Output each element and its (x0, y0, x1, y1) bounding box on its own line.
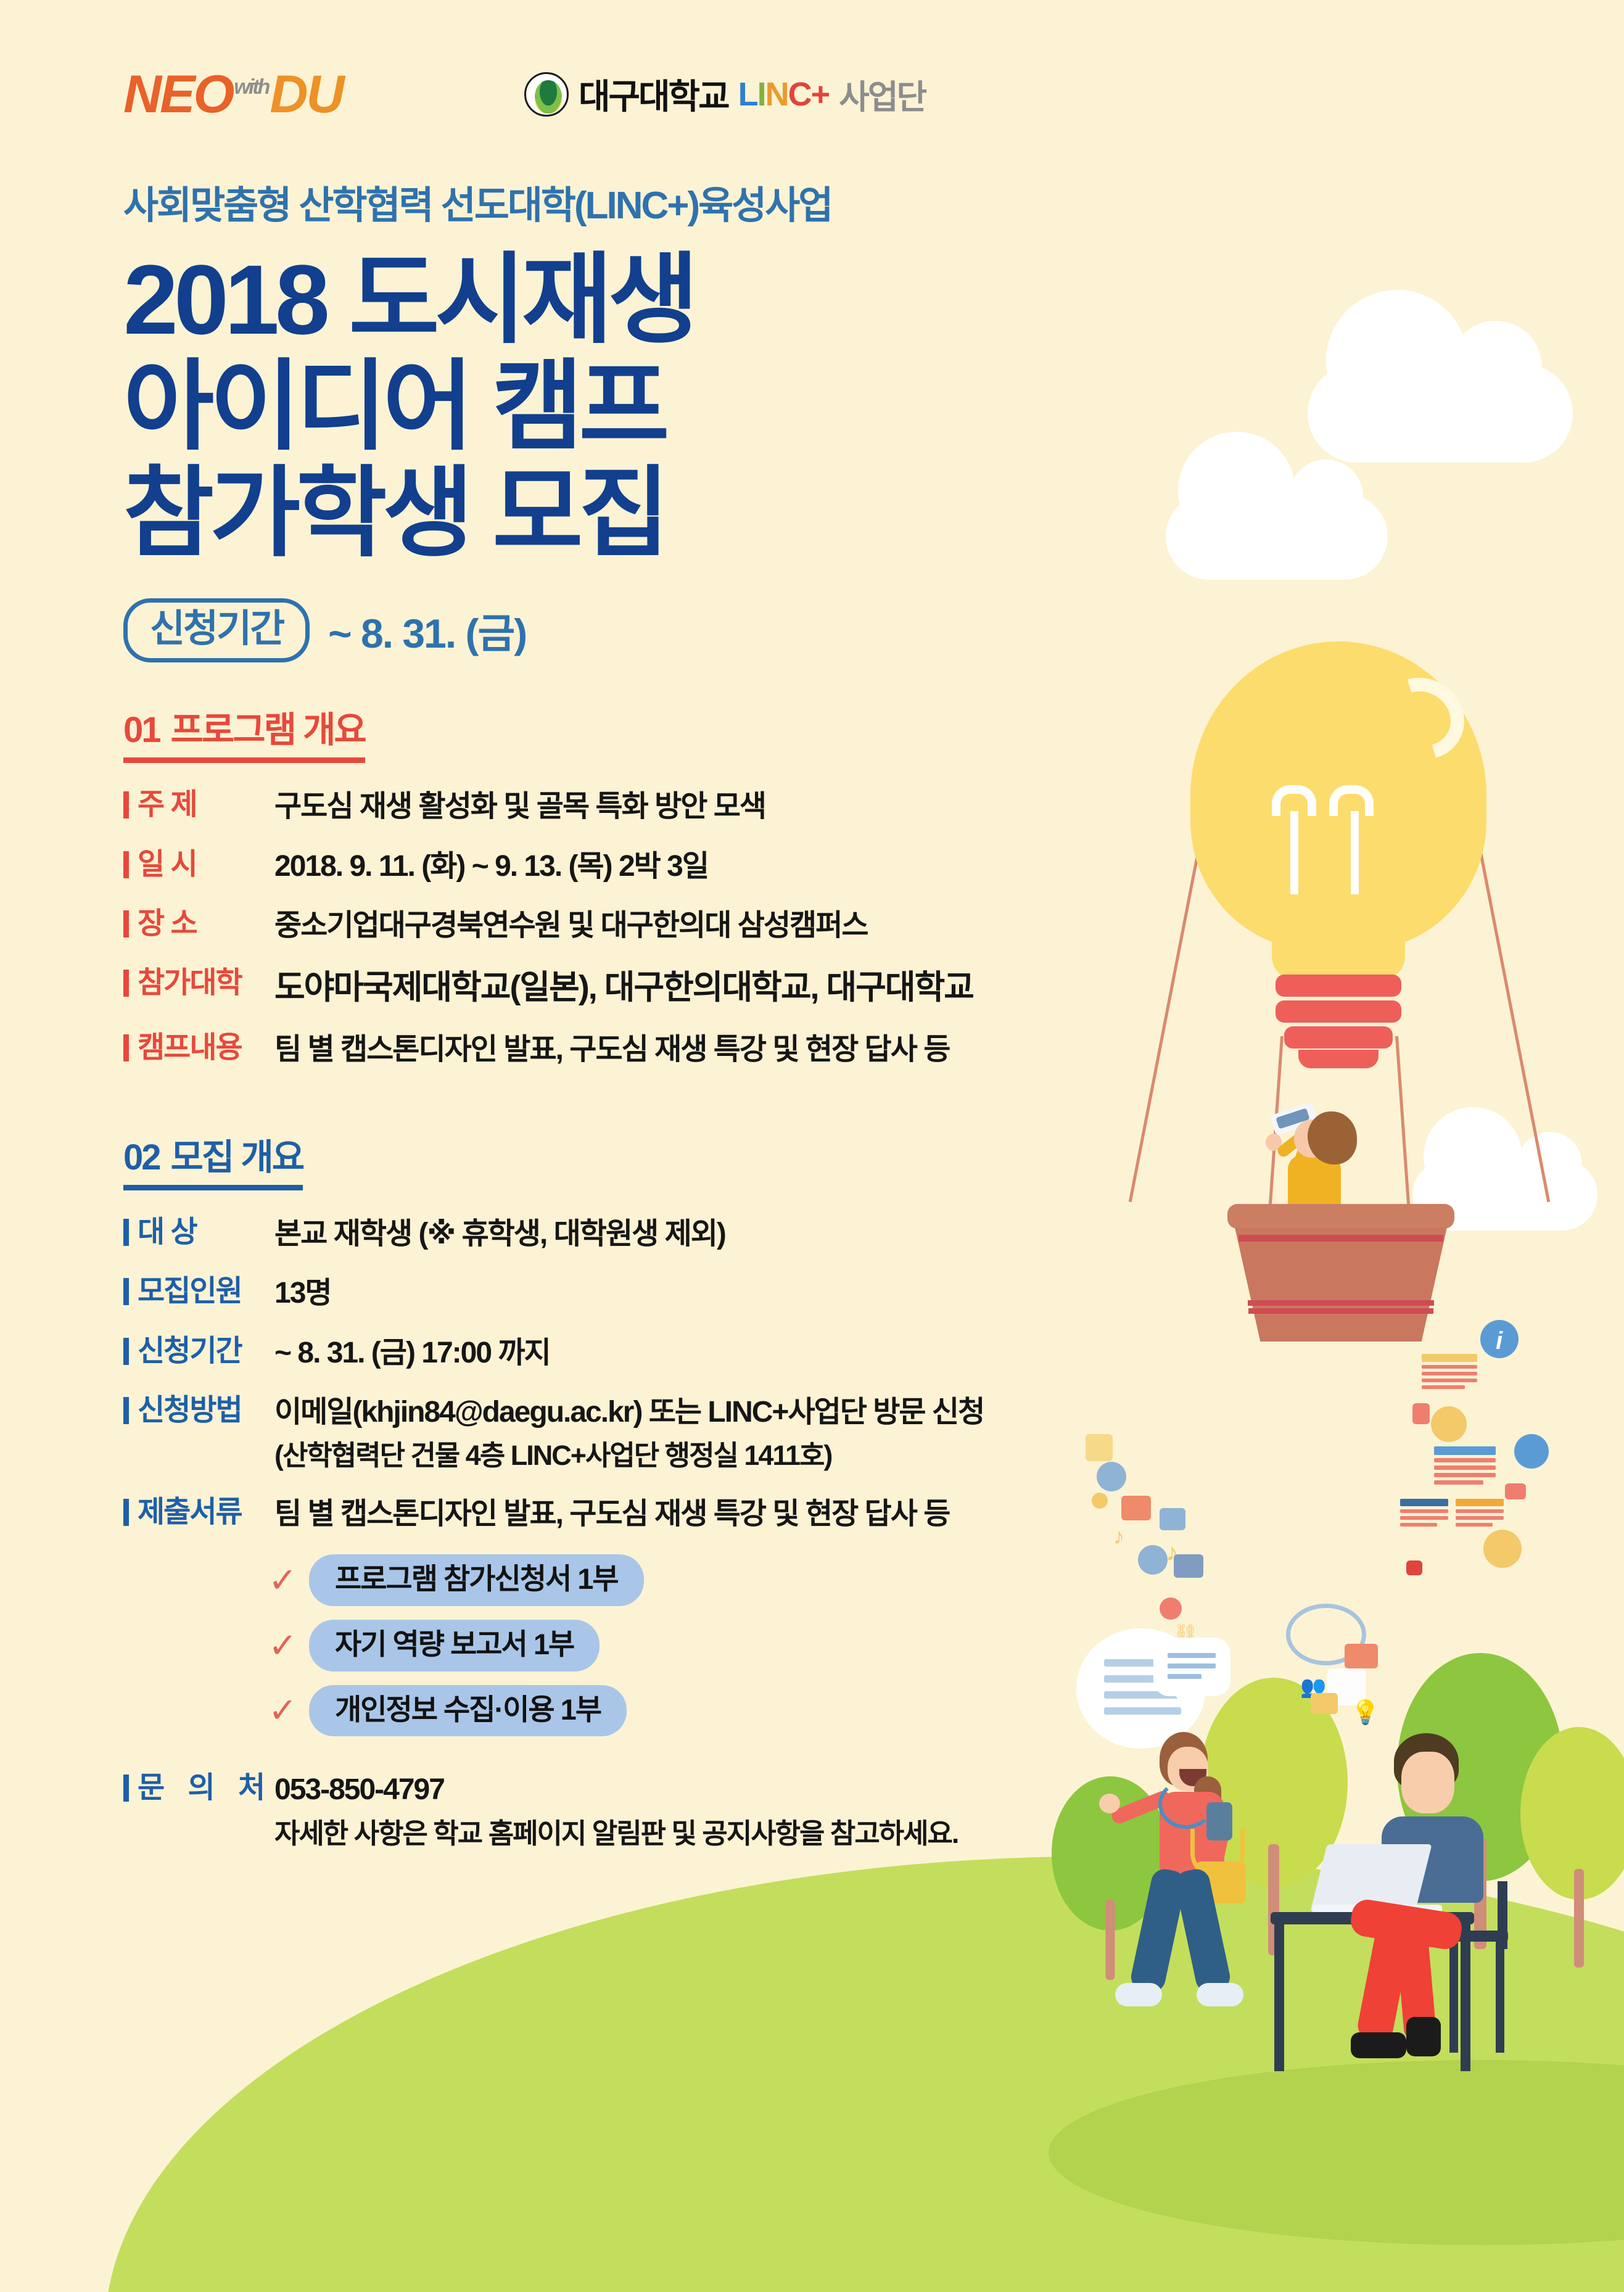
section-heading-recruitment-overview: 02모집 개요 (123, 1138, 303, 1190)
shoe (1351, 2032, 1406, 2058)
detail-row: 대 상 본교 재학생 (※ 휴학생, 대학원생 제외) (123, 1215, 1049, 1253)
row-label: 대 상 (138, 1215, 274, 1249)
people-icon: 👥 (1300, 1675, 1326, 1699)
camera-icon (1121, 1496, 1151, 1520)
head (1168, 1747, 1208, 1791)
desk-leg (1274, 1923, 1284, 2071)
poster-canvas: i (0, 0, 1624, 2292)
row-marker (123, 910, 129, 938)
program-overview-rows: 주 제 구도심 재생 활성화 및 골목 특화 방안 모색 일 시 2018. 9… (123, 788, 1049, 1069)
bulb-filament-stem (1290, 811, 1298, 894)
badge-label: 신청기간 (123, 598, 310, 662)
basket-stripe (1248, 1300, 1434, 1306)
torso (1288, 1155, 1341, 1227)
row-label: 장 소 (138, 907, 274, 941)
shoe (1197, 1983, 1243, 2006)
check-icon: ✓ (268, 1563, 309, 1597)
detail-row: 일 시 2018. 9. 11. (화) ~ 9. 13. (목) 2박 3일 (123, 847, 1049, 886)
linc-sub-label: 사업단 (839, 70, 925, 118)
detail-row: 주 제 구도심 재생 활성화 및 골목 특화 방안 모색 (123, 788, 1049, 826)
music-note-icon: ♪ (1166, 1539, 1178, 1567)
balloon-basket-rim (1227, 1204, 1454, 1229)
row-value-main: 이메일(khjin84@daegu.ac.kr) 또는 LINC+사업단 방문 … (274, 1396, 984, 1428)
tree-icon (1394, 1653, 1567, 1949)
mail-icon (1483, 1530, 1522, 1568)
detail-row: 모집인원 13명 (123, 1274, 1049, 1313)
hair (1394, 1733, 1459, 1790)
speech-bubble-tail (1175, 1695, 1195, 1712)
hair (1160, 1732, 1208, 1786)
section-title: 모집 개요 (171, 1137, 303, 1177)
row-label: 제출서류 (138, 1495, 274, 1529)
row-value: 팀 별 캡스톤디자인 발표, 구도심 재생 특강 및 현장 답사 등 (274, 1495, 949, 1533)
hill-shadow (1049, 2060, 1624, 2245)
bag-strap (1190, 1829, 1245, 1878)
bulb-filament-stem (1351, 811, 1359, 894)
bulb-filament (1272, 785, 1316, 816)
row-marker (123, 1278, 129, 1305)
checklist-label: 프로그램 참가신청서 1부 (309, 1554, 644, 1606)
discount-badge-icon (1138, 1545, 1168, 1575)
bulb-neck (1272, 901, 1405, 981)
phone-icon (1206, 1802, 1232, 1841)
with-logo-text: with (234, 75, 268, 99)
neo-with-du-logo: NEOwithDU (123, 68, 343, 121)
section-title: 프로그램 개요 (171, 710, 365, 750)
balloon-rope (1474, 827, 1550, 1203)
pointing-hand-icon (1099, 1794, 1120, 1813)
shoe (1406, 2017, 1441, 2056)
contact-note: 자세한 사항은 학교 홈페이지 알림판 및 공지사항을 참고하세요. (274, 1816, 958, 1852)
arm (1344, 1844, 1414, 1869)
row-marker (123, 970, 129, 997)
detail-row: 장 소 중소기업대구경북연수원 및 대구한의대 삼성캠퍼스 (123, 907, 1049, 945)
cloud-icon (1166, 493, 1388, 580)
application-period-badge: 신청기간 ~ 8. 31. (금) (123, 598, 1049, 662)
chair-leg (1496, 1942, 1504, 2053)
document-icon (1434, 1446, 1496, 1488)
recruitment-overview-rows: 대 상 본교 재학생 (※ 휴학생, 대학원생 제외) 모집인원 13명 신청기… (123, 1215, 1049, 1533)
row-label: 캠프내용 (138, 1031, 274, 1065)
document-icon (1456, 1499, 1504, 1530)
section-number: 01 (123, 710, 160, 750)
user-icon (1160, 1597, 1182, 1620)
row-value: 구도심 재생 활성화 및 골목 특화 방안 모색 (274, 788, 765, 826)
speech-bubble-icon (1286, 1604, 1366, 1665)
row-marker (123, 791, 129, 818)
row-marker (123, 851, 129, 878)
row-label: 주 제 (138, 788, 274, 822)
arm (1294, 1127, 1317, 1165)
row-label: 신청방법 (138, 1393, 274, 1427)
bulb-screw-tip (1298, 1050, 1379, 1068)
walking-girl-with-phone-icon (1086, 1721, 1308, 2066)
headphones-icon: 🎧 (1187, 1644, 1213, 1668)
earphone-cable-icon (1158, 1779, 1214, 1829)
camera-icon (1311, 1693, 1338, 1714)
chair-leg (1449, 1942, 1458, 2053)
tree-icon (1049, 1776, 1172, 1980)
row-value: 2018. 9. 11. (화) ~ 9. 13. (목) 2박 3일 (274, 847, 708, 886)
list-item: ✓ 개인정보 수집·이용 1부 (268, 1685, 1049, 1737)
shoe (1115, 1983, 1162, 2006)
leg (1395, 1929, 1436, 2043)
row-label: 모집인원 (138, 1274, 274, 1308)
row-value: 13명 (274, 1274, 331, 1313)
check-icon: ✓ (268, 1693, 309, 1728)
head (1401, 1752, 1454, 1813)
laptop-keyboard-icon (1313, 1905, 1442, 1916)
page-title: 2018 도시재생 아이디어 캠프 참가학생 모집 (123, 247, 1049, 566)
contact-phone: 053-850-4797 (274, 1773, 444, 1806)
balloon-rope (1129, 827, 1205, 1203)
basket-stripe (1248, 1308, 1433, 1314)
checklist-label: 자기 역량 보고서 1부 (309, 1620, 600, 1672)
desk-leg (1461, 1923, 1470, 2071)
row-value: 팀 별 캡스톤디자인 발표, 구도심 재생 특강 및 현장 답사 등 (274, 1031, 949, 1069)
legs (1294, 1220, 1335, 1256)
row-label: 참가대학 (138, 966, 274, 1000)
checklist-label: 개인정보 수집·이용 1부 (309, 1685, 627, 1737)
head (1294, 1119, 1329, 1158)
monitor-icon (1097, 1462, 1126, 1491)
leg (1129, 1866, 1188, 1994)
ponytail (1194, 1776, 1221, 1850)
row-marker (123, 1338, 129, 1365)
info-glyph: i (1496, 1327, 1502, 1355)
detail-row: 문 의 처 053-850-4797 자세한 사항은 학교 홈페이지 알림판 및… (123, 1771, 1049, 1852)
document-icon (1422, 1354, 1477, 1392)
list-item: ✓ 프로그램 참가신청서 1부 (268, 1554, 1049, 1606)
basket-stripe (1239, 1235, 1443, 1242)
row-label: 신청기간 (138, 1334, 274, 1368)
title-line-1: 2018 도시재생 (123, 247, 1049, 353)
list-item: ✓ 자기 역량 보고서 1부 (268, 1620, 1049, 1672)
leg (1173, 1866, 1232, 1994)
boy-at-laptop-icon (1308, 1727, 1573, 2072)
section-heading-program-overview: 01프로그램 개요 (123, 711, 365, 763)
leg (1355, 1922, 1412, 2044)
row-value: 053-850-4797 자세한 사항은 학교 홈페이지 알림판 및 공지사항을… (274, 1771, 958, 1852)
badge-date: ~ 8. 31. (금) (328, 601, 526, 660)
mouth (1179, 1769, 1206, 1786)
title-line-2: 아이디어 캠프 (123, 353, 1049, 460)
gear-icon (1092, 1493, 1108, 1509)
check-icon: ✓ (268, 1628, 309, 1663)
copy-icon (1086, 1434, 1113, 1461)
bulb-filament (1329, 785, 1374, 816)
mail-icon (1345, 1644, 1378, 1668)
bulb-screw-base (1284, 1026, 1393, 1049)
university-name: 대구대학교 (579, 69, 728, 119)
cloud-icon (1308, 364, 1573, 463)
chair-seat (1440, 1931, 1508, 1942)
row-value: 이메일(khjin84@daegu.ac.kr) 또는 LINC+사업단 방문 … (274, 1393, 984, 1474)
briefcase-icon (1174, 1554, 1203, 1578)
row-marker (123, 1499, 129, 1526)
lightbulb-hot-air-balloon-icon (1129, 641, 1523, 1419)
bar-chart-icon (1412, 1403, 1430, 1424)
document-lines (1104, 1659, 1181, 1723)
logo-row: NEOwithDU 대구대학교 LINC+ 사업단 (123, 0, 1049, 154)
row-value: 중소기업대구경북연수원 및 대구한의대 삼성캠퍼스 (274, 907, 868, 945)
hair (1308, 1111, 1357, 1165)
balloon-basket (1235, 1227, 1447, 1342)
leg (1348, 1897, 1464, 1951)
balloon-rope (1395, 1036, 1411, 1215)
contact-block: 문 의 처 053-850-4797 자세한 사항은 학교 홈페이지 알림판 및… (123, 1771, 1049, 1852)
bulb-screw-base (1276, 1000, 1401, 1023)
bulb-screw-base (1276, 975, 1401, 997)
poster-content: NEOwithDU 대구대학교 LINC+ 사업단 사회맞춤형 산학협력 선도대… (0, 0, 1049, 1926)
row-value: 본교 재학생 (※ 휴학생, 대학원생 제외) (274, 1215, 725, 1253)
shoulder-bag-icon (1195, 1861, 1246, 1903)
row-value: 도야마국제대학교(일본), 대구한의대학교, 대구대학교 (274, 966, 973, 1009)
torso (1382, 1816, 1483, 1903)
row-value-sub: (산학협력단 건물 4층 LINC+사업단 행정실 1411호) (274, 1438, 984, 1474)
row-value: ~ 8. 31. (금) 17:00 까지 (274, 1334, 550, 1372)
neo-logo-text: NEO (123, 65, 233, 124)
row-label: 문 의 처 (138, 1771, 274, 1805)
lightbulb-icon: 💡 (1351, 1699, 1380, 1726)
tree-icon (1197, 1678, 1351, 1955)
speech-bubble-lines (1168, 1653, 1216, 1679)
title-line-3: 참가학생 모집 (123, 460, 1049, 567)
phone-screen (1276, 1108, 1309, 1129)
link-icon: ⛓ (1173, 1622, 1198, 1646)
required-documents-checklist: ✓ 프로그램 참가신청서 1부 ✓ 자기 역량 보고서 1부 ✓ 개인정보 수집… (268, 1554, 1049, 1736)
detail-row: 신청방법 이메일(khjin84@daegu.ac.kr) 또는 LINC+사업… (123, 1393, 1049, 1474)
arm (1207, 1812, 1233, 1865)
detail-row: 참가대학 도야마국제대학교(일본), 대구한의대학교, 대구대학교 (123, 966, 1049, 1009)
document-blob-icon (1076, 1628, 1206, 1749)
program-subtitle: 사회맞춤형 산학협력 선도대학(LINC+)육성사업 (123, 174, 1049, 229)
detail-row: 캠프내용 팀 별 캡스톤디자인 발표, 구도심 재생 특강 및 현장 답사 등 (123, 1031, 1049, 1069)
detail-row: 제출서류 팀 별 캡스톤디자인 발표, 구도심 재생 특강 및 현장 답사 등 (123, 1495, 1049, 1533)
chart-cards-icon (1327, 1668, 1366, 1705)
document-icon (1400, 1499, 1448, 1530)
row-label: 일 시 (138, 847, 274, 881)
music-note-icon: ♪ (1113, 1523, 1124, 1549)
section-number: 02 (123, 1137, 160, 1177)
daegu-university-linc-logo: 대구대학교 LINC+ 사업단 (524, 69, 925, 119)
cloud-icon (1412, 1160, 1597, 1231)
detail-row: 신청기간 ~ 8. 31. (금) 17:00 까지 (123, 1334, 1049, 1372)
row-marker (123, 1397, 129, 1424)
du-logo-text: DU (270, 65, 342, 124)
linc-plus-mark: LINC+ (738, 75, 830, 113)
chair-back (1498, 1881, 1507, 1949)
briefcase-icon (1514, 1434, 1549, 1469)
monitor-icon (1505, 1483, 1526, 1499)
tree-icon (1517, 1727, 1624, 1968)
balloon-rope (1268, 1036, 1284, 1215)
torso (1160, 1792, 1224, 1875)
arm (1276, 1123, 1317, 1159)
lock-icon (1406, 1560, 1422, 1575)
tools-icon (1431, 1406, 1467, 1442)
laptop-screen-icon (1310, 1844, 1432, 1912)
arm (1110, 1789, 1173, 1826)
daegu-university-seal-icon (524, 72, 569, 117)
hand (1266, 1134, 1282, 1151)
desk-top (1271, 1912, 1474, 1924)
info-icon (1480, 1320, 1519, 1358)
row-marker (123, 1219, 129, 1246)
image-icon (1160, 1508, 1185, 1530)
bulb-glass (1190, 641, 1486, 950)
phone-icon (1270, 1102, 1319, 1136)
row-marker (123, 1034, 129, 1061)
speech-bubble-icon (1153, 1638, 1230, 1696)
row-marker (123, 1775, 129, 1802)
bulb-shine-highlight (1365, 663, 1479, 775)
